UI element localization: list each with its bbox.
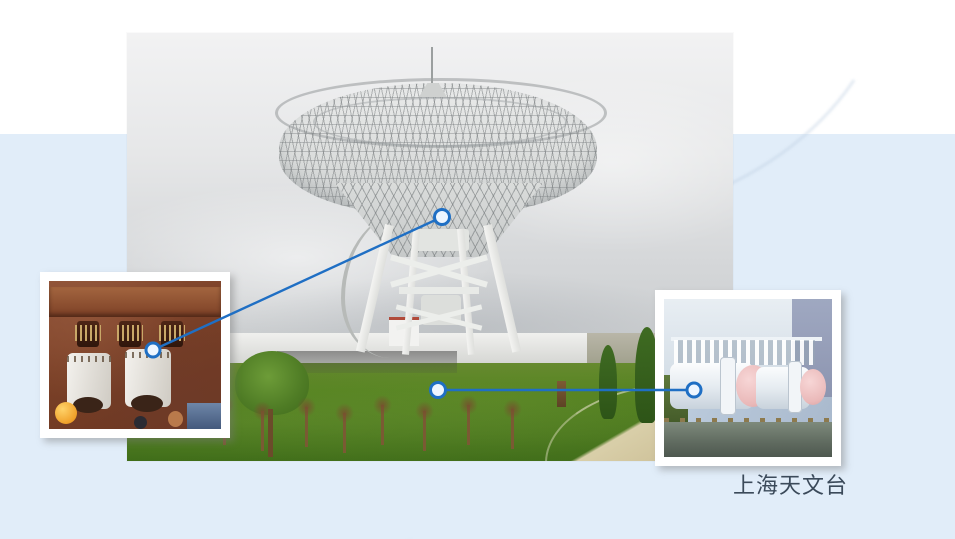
shrub-2 bbox=[557, 381, 566, 407]
concrete-base bbox=[664, 422, 832, 457]
gearbox-flange-left bbox=[720, 357, 736, 415]
blue-tarp bbox=[187, 403, 221, 429]
gear-teeth-3 bbox=[159, 325, 185, 341]
dish-inner-ring bbox=[313, 97, 567, 147]
gear-teeth-1 bbox=[75, 325, 101, 341]
inset-right-image bbox=[664, 299, 832, 457]
worker-head-1 bbox=[168, 411, 183, 427]
sapling-5 bbox=[381, 405, 384, 445]
sapling-8 bbox=[511, 409, 514, 449]
orange-helmet bbox=[55, 402, 77, 424]
sapling-3 bbox=[305, 407, 308, 447]
worker-head-2 bbox=[134, 416, 147, 429]
slide-canvas: 上海天文台 bbox=[0, 0, 955, 539]
inset-left bbox=[40, 272, 230, 438]
inset-right bbox=[655, 290, 841, 466]
cylinder-bolts-right bbox=[125, 352, 171, 358]
sapling-2 bbox=[261, 411, 264, 451]
background-right-white-panel bbox=[733, 0, 955, 134]
feed-mast bbox=[431, 47, 433, 89]
inset-left-image bbox=[49, 281, 221, 429]
sapling-4 bbox=[343, 413, 346, 453]
cypress-5 bbox=[599, 345, 617, 419]
cylinder-bolts-left bbox=[67, 356, 111, 362]
gearbox-pink-face-right bbox=[800, 369, 826, 405]
cylinder-cap-right bbox=[131, 395, 163, 412]
pedestal-band bbox=[399, 287, 479, 294]
cylinder-cap-left bbox=[73, 397, 103, 413]
gear-teeth-2 bbox=[117, 325, 143, 341]
sapling-7 bbox=[467, 405, 470, 445]
photo-caption: 上海天文台 bbox=[733, 468, 848, 500]
sapling-6 bbox=[423, 411, 426, 451]
rusty-top-beam bbox=[49, 287, 221, 317]
